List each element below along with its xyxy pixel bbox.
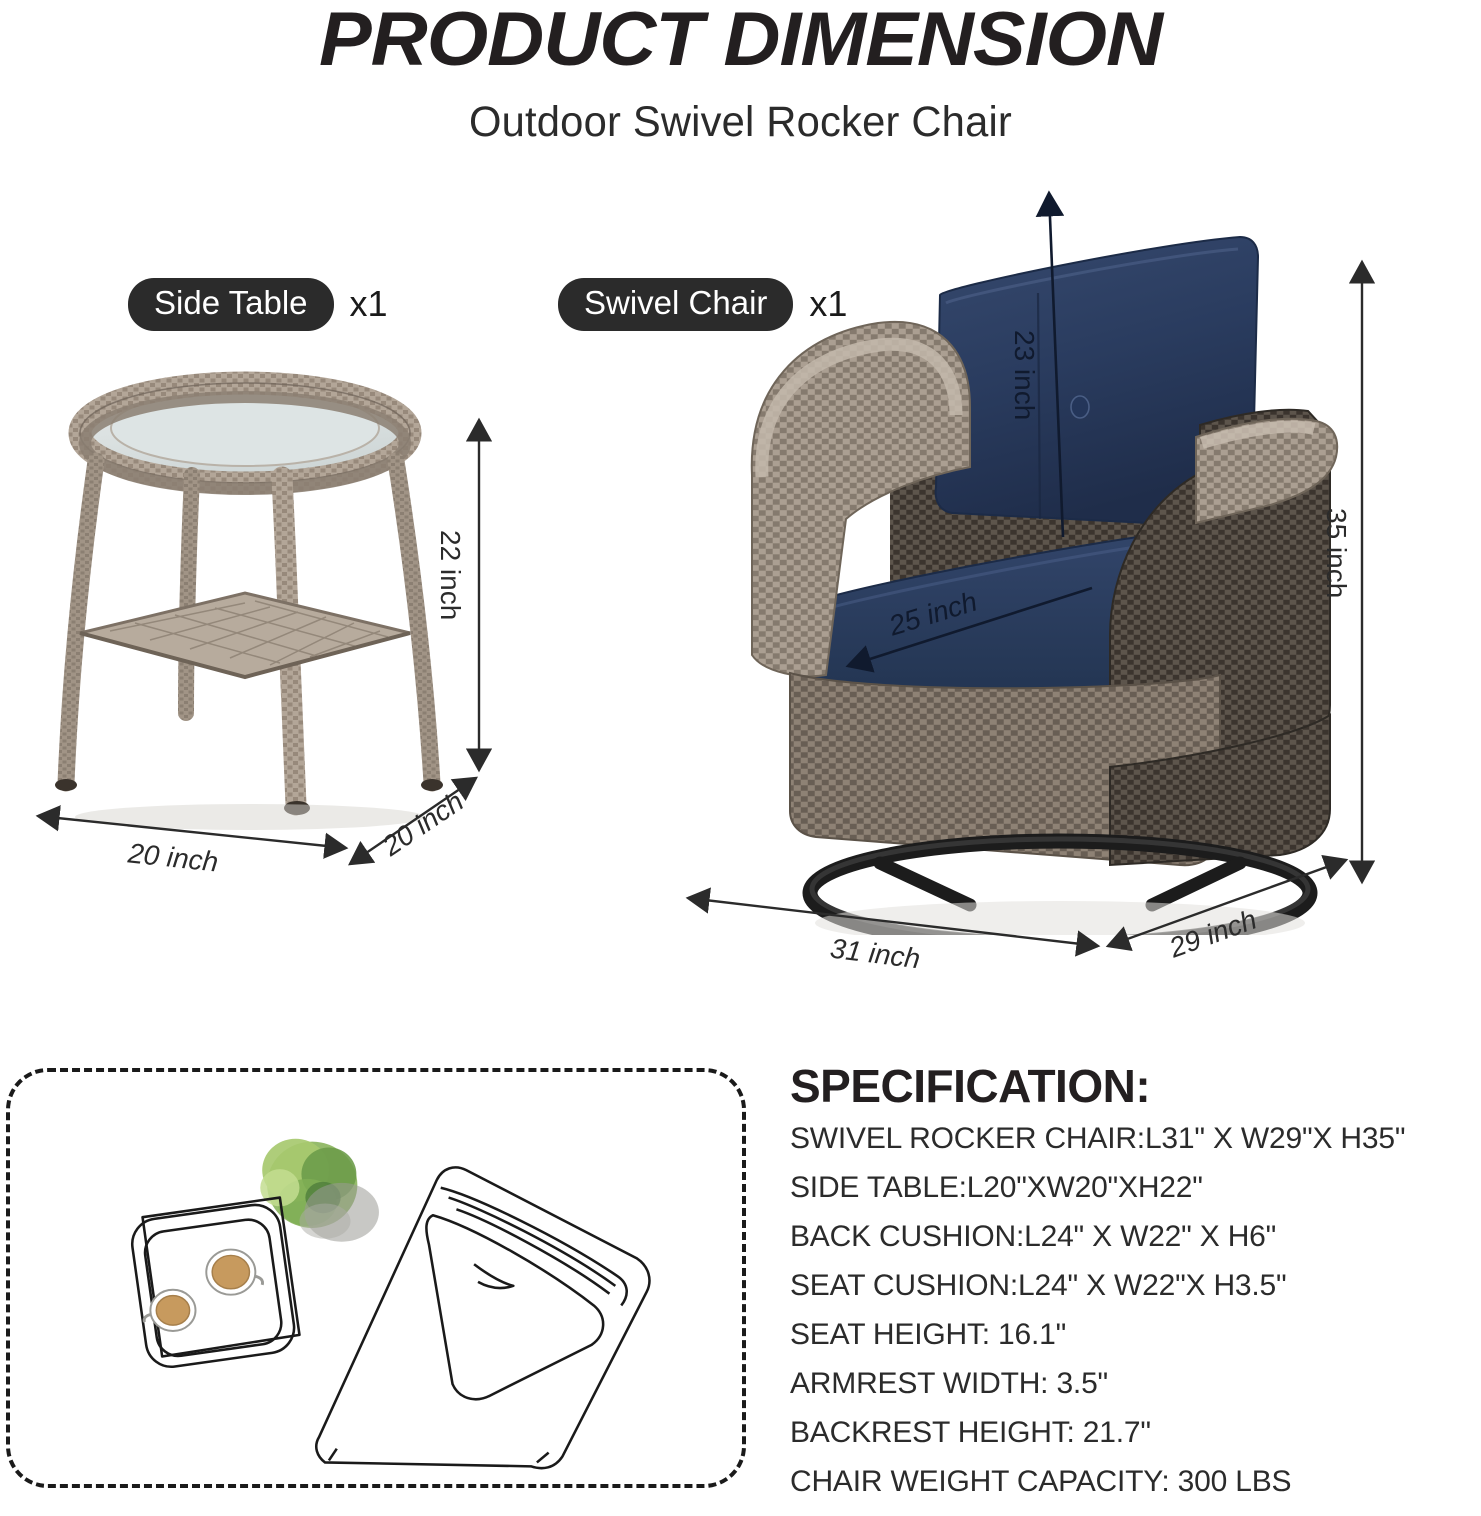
side-table-height-label: 22 inch <box>434 530 466 620</box>
specification-section: SPECIFICATION: SWIVEL ROCKER CHAIR:L31" … <box>790 1062 1481 1516</box>
spec-item: ARMREST WIDTH: 3.5" <box>790 1369 1481 1399</box>
back-cushion-height-dimension <box>1035 185 1075 545</box>
coffee-cup-icon <box>206 1250 262 1295</box>
page-subtitle: Outdoor Swivel Rocker Chair <box>22 98 1459 147</box>
legend-side-table: Side Table x1 <box>128 278 388 331</box>
seat-depth-dimension <box>840 578 1110 678</box>
specification-title: SPECIFICATION: <box>790 1062 1481 1110</box>
chair-height-label: 35 inch <box>1320 508 1352 598</box>
spec-item: SEAT CUSHION:L24" X W22"X H3.5" <box>790 1271 1481 1301</box>
side-table-height-dimension <box>462 410 496 780</box>
side-table-badge: Side Table <box>128 278 334 331</box>
spec-item: BACKREST HEIGHT: 21.7" <box>790 1418 1481 1448</box>
product-stage: 20 inch 20 inch 22 inch <box>0 340 1481 1040</box>
swivel-chair-image <box>640 175 1400 935</box>
lifestyle-illustration-panel <box>6 1068 746 1488</box>
header: PRODUCT DIMENSION Outdoor Swivel Rocker … <box>0 0 1481 175</box>
plant-icon <box>260 1139 379 1242</box>
page-title: PRODUCT DIMENSION <box>0 0 1481 83</box>
spec-item: CHAIR WEIGHT CAPACITY: 300 LBS <box>790 1467 1481 1497</box>
spec-item: SIDE TABLE:L20"XW20"XH22" <box>790 1173 1481 1203</box>
spec-item: SEAT HEIGHT: 16.1" <box>790 1320 1481 1350</box>
side-table-count: x1 <box>350 283 388 325</box>
lifestyle-scene <box>10 1072 742 1484</box>
spec-item: BACK CUSHION:L24" X W22" X H6" <box>790 1222 1481 1252</box>
spec-item: SWIVEL ROCKER CHAIR:L31" X W29"X H35" <box>790 1124 1481 1154</box>
back-cushion-height-label: 23 inch <box>1008 330 1040 420</box>
